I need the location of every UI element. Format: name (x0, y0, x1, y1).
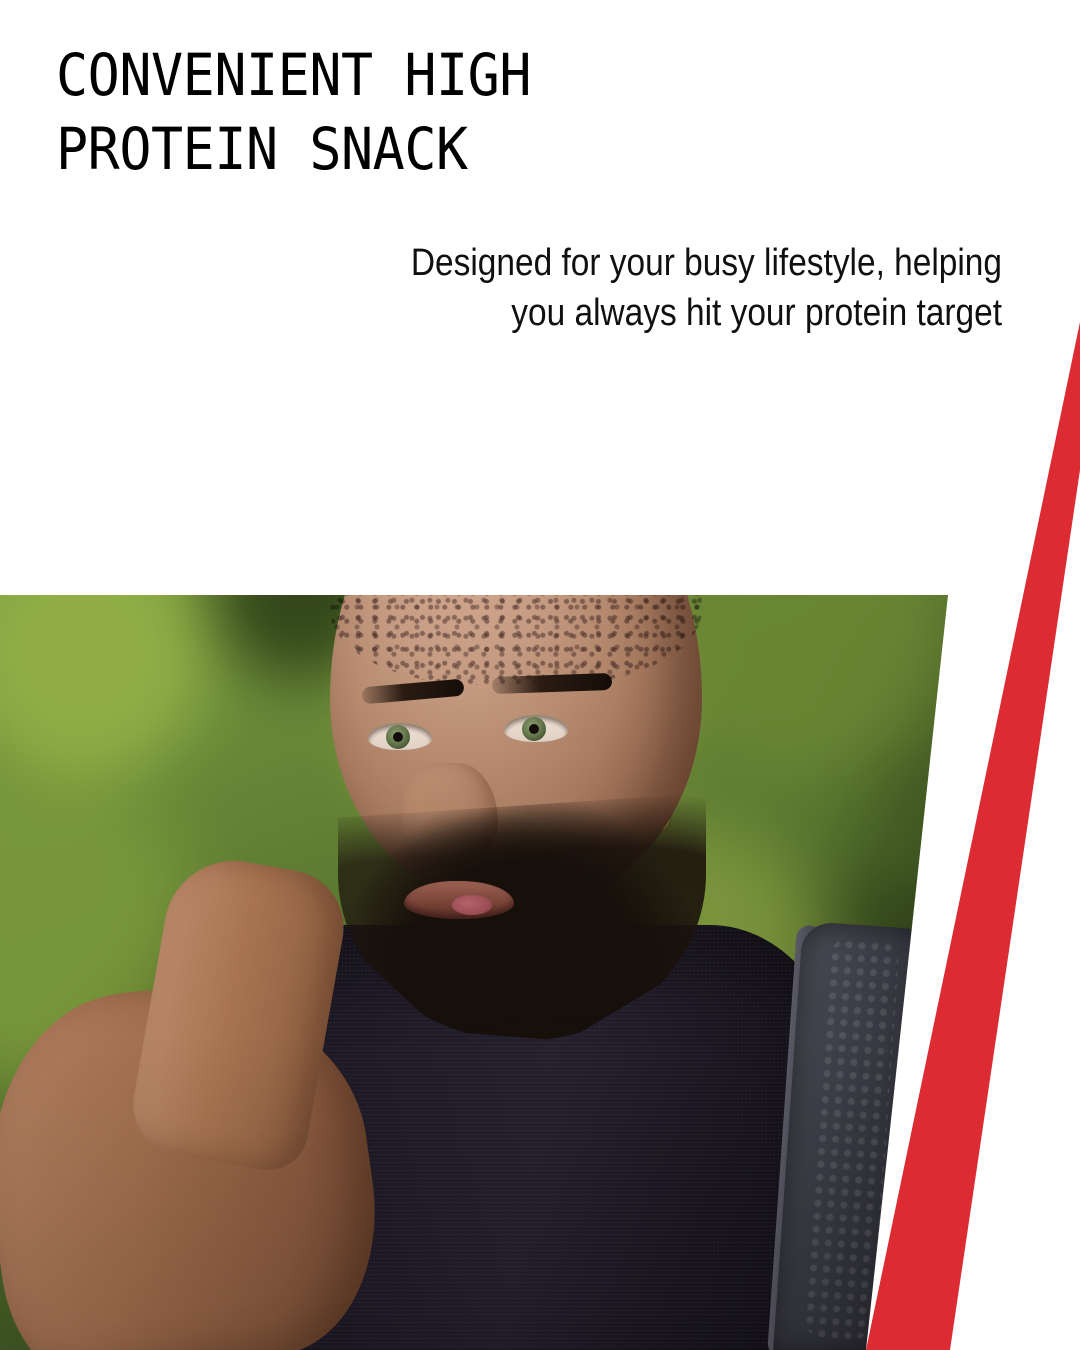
text-block: CONVENIENT HIGH PROTEIN SNACK Designed f… (0, 0, 1080, 595)
product-feature-banner: CONVENIENT HIGH PROTEIN SNACK Designed f… (0, 0, 1080, 1350)
pupil-right (529, 724, 539, 734)
page-title: CONVENIENT HIGH PROTEIN SNACK (56, 38, 884, 186)
photo-subject: PhD (0, 595, 1080, 1350)
iris-left (386, 725, 410, 749)
iris-right (522, 717, 546, 741)
hero-photo: PhD (0, 595, 1080, 1350)
shaved-scalp (330, 595, 702, 685)
subject-eye-left (368, 723, 432, 750)
pupil-left (393, 732, 403, 742)
subject-tongue (452, 895, 492, 915)
subject-eye-right (504, 715, 568, 742)
subtitle: Designed for your busy lifestyle, helpin… (298, 238, 1002, 338)
